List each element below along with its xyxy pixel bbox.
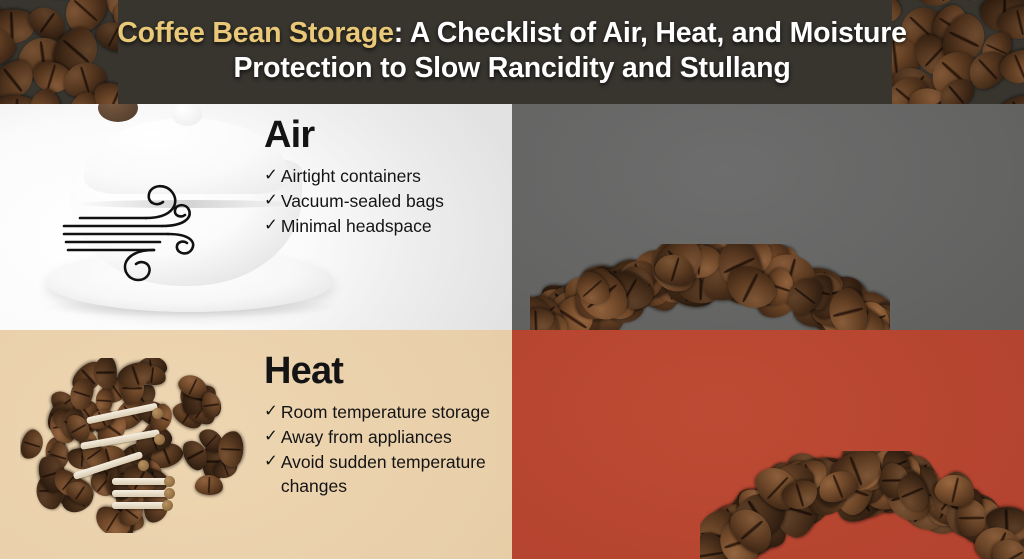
air-text-block: Air ✓ Airtight containers ✓ Vacuum-seale… (264, 116, 508, 239)
stick-cap (164, 476, 175, 487)
list-item-label: Avoid sudden temperature changes (281, 450, 508, 498)
check-icon: ✓ (264, 425, 278, 448)
stick-cap (162, 500, 173, 511)
coffee-bean (94, 358, 117, 389)
heat-text-block: Heat ✓ Room temperature storage ✓ Away f… (264, 352, 508, 500)
list-item: ✓ Away from appliances (264, 425, 508, 449)
wooden-stick (112, 490, 170, 497)
page-title-accent: Coffee Bean Storage (117, 17, 394, 49)
list-item-label: Room temperature storage (281, 400, 508, 424)
stick-cap (164, 488, 175, 499)
list-item-label: Vacuum-sealed bags (281, 189, 508, 213)
stick-cap (154, 434, 165, 445)
quadrant-moisture: Moisture ✓ Dry environments ✓ Airtight s… (512, 330, 1024, 559)
wooden-stick (112, 478, 170, 485)
coffee-beans-scattered-photo (20, 358, 250, 533)
coffee-bean (990, 89, 1024, 104)
list-item: ✓ Vacuum-sealed bags (264, 189, 508, 213)
check-icon: ✓ (264, 164, 278, 187)
check-icon: ✓ (264, 400, 278, 423)
quadrant-grid: Air ✓ Airtight containers ✓ Vacuum-seale… (0, 104, 1024, 559)
quadrant-heat: Heat ✓ Room temperature storage ✓ Away f… (0, 330, 512, 559)
list-item: ✓ Airtight containers (264, 164, 508, 188)
list-item-label: Away from appliances (281, 425, 508, 449)
check-icon: ✓ (264, 450, 278, 473)
decorative-bean (98, 104, 138, 122)
coffee-bean-storage-infographic: Coffee Bean Storage: A Checklist of Air,… (0, 0, 1024, 559)
coffee-bean (218, 431, 244, 467)
list-item: ✓ Room temperature storage (264, 400, 508, 424)
air-checklist: ✓ Airtight containers ✓ Vacuum-sealed ba… (264, 164, 508, 238)
check-icon: ✓ (264, 214, 278, 237)
wind-icon (50, 144, 250, 294)
stick-cap (138, 460, 149, 471)
list-item: ✓ Avoid sudden temperature changes (264, 450, 508, 498)
coffee-bean (194, 475, 223, 496)
heat-heading: Heat (264, 352, 508, 390)
quadrant-light: Light ✓ Opaque containers ✓ Dark storge … (512, 104, 1024, 330)
page-title: Coffee Bean Storage: A Checklist of Air,… (0, 16, 1024, 86)
list-item-label: Airtight containers (281, 164, 508, 188)
coffee-bean-pile-photo (530, 244, 890, 330)
quadrant-air: Air ✓ Airtight containers ✓ Vacuum-seale… (0, 104, 512, 330)
stick-cap (152, 408, 163, 419)
air-heading: Air (264, 116, 508, 154)
check-icon: ✓ (264, 189, 278, 212)
header-banner: Coffee Bean Storage: A Checklist of Air,… (0, 0, 1024, 104)
list-item: ✓ Minimal headspace (264, 214, 508, 238)
wooden-stick (112, 502, 168, 509)
heat-checklist: ✓ Room temperature storage ✓ Away from a… (264, 400, 508, 499)
list-item-label: Minimal headspace (281, 214, 508, 238)
coffee-bean-pile-photo (700, 451, 1024, 559)
